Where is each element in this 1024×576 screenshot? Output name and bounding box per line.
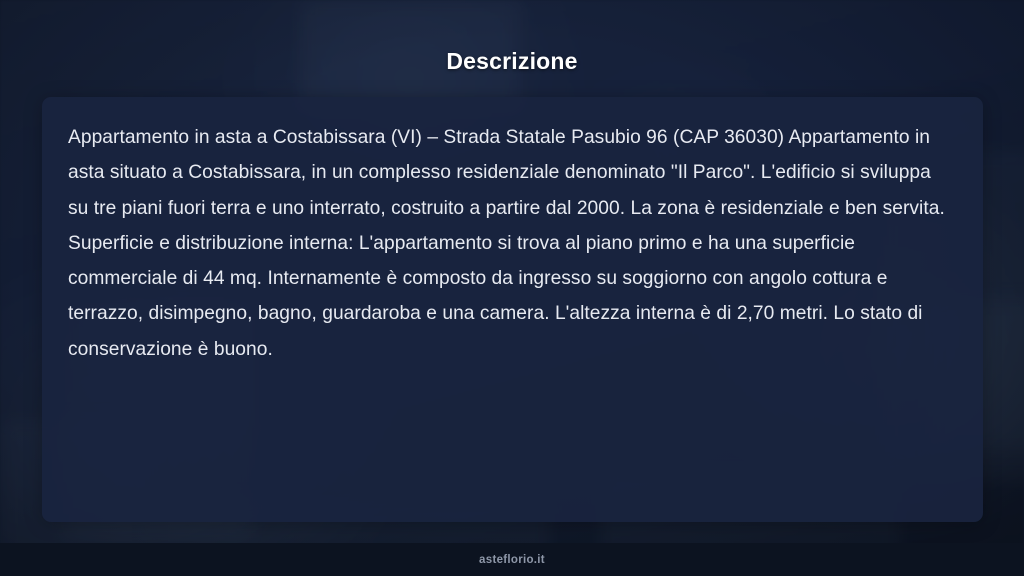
description-text: Appartamento in asta a Costabissara (VI)…: [42, 97, 983, 367]
slide-page: Descrizione Appartamento in asta a Costa…: [0, 0, 1024, 576]
footer-bar: asteflorio.it: [0, 543, 1024, 576]
description-card: Appartamento in asta a Costabissara (VI)…: [42, 97, 983, 522]
site-watermark: asteflorio.it: [479, 554, 545, 566]
page-title: Descrizione: [0, 48, 1024, 75]
